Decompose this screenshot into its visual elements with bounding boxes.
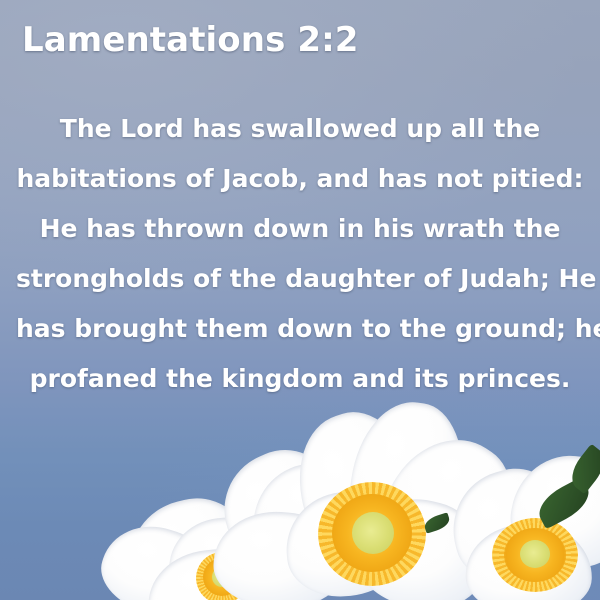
flower-center-outer <box>203 558 241 596</box>
flower-petal <box>345 486 497 600</box>
verse-line: habitations of Jacob, and has not pitied… <box>16 154 584 204</box>
flower-center-outer <box>504 528 566 582</box>
flower-petal <box>503 447 600 578</box>
verse-image-card: Lamentations 2:2 The Lord has swallowed … <box>0 0 600 600</box>
verse-line: He has thrown down in his wrath the <box>16 204 584 254</box>
flower-petal <box>464 522 593 600</box>
flower-petal <box>281 486 411 600</box>
verse-text-block: The Lord has swallowed up all the habita… <box>0 104 600 404</box>
verse-line: strongholds of the daughter of Judah; He <box>16 254 584 304</box>
verse-line: has brought them down to the ground; he … <box>16 304 584 354</box>
flower-petal <box>144 544 279 600</box>
flower-stamen-ring <box>318 482 426 586</box>
flower-leaf <box>532 477 596 530</box>
flower-center-inner <box>352 512 394 554</box>
flower-leaf <box>422 512 451 533</box>
flower-stamen-ring <box>196 552 248 600</box>
flower-leaf <box>564 444 600 495</box>
flower-center-inner <box>520 540 550 568</box>
verse-line: The Lord has swallowed up all the <box>16 104 584 154</box>
flower-petal <box>342 400 474 561</box>
flower-petal <box>245 453 381 583</box>
flower-photo-band <box>0 400 600 600</box>
page-title: Lamentations 2:2 <box>22 20 359 60</box>
flower-petal <box>366 416 535 588</box>
verse-line: profaned the kingdom and its princes. <box>16 354 584 404</box>
flower-petal <box>280 400 440 577</box>
flower-stamen-ring <box>492 518 578 592</box>
flower-petal <box>206 432 356 575</box>
flower-petal <box>120 487 260 600</box>
flower-petal <box>211 508 347 600</box>
flower-petal <box>91 513 224 600</box>
flower-center-outer <box>332 494 412 572</box>
flower-petal <box>164 510 294 600</box>
flower-center-inner <box>212 567 232 587</box>
flower-petal <box>439 456 585 595</box>
